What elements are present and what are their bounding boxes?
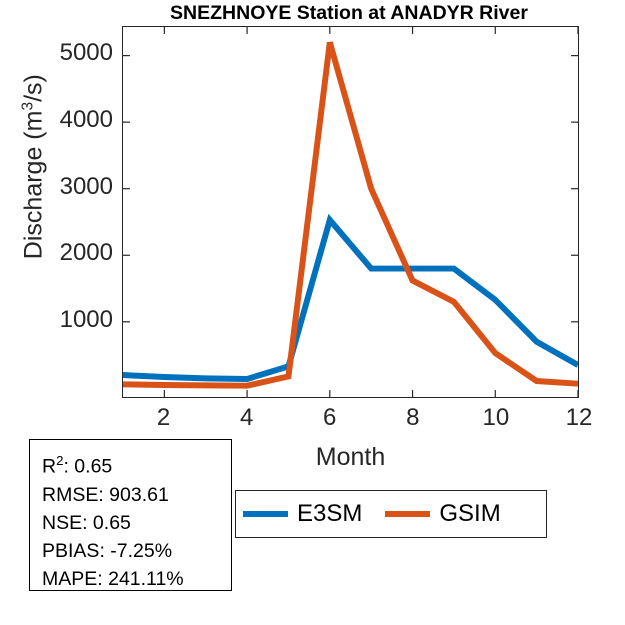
- stat-rmse: RMSE: 903.61: [42, 481, 231, 509]
- legend-swatch-gsim: [385, 511, 430, 517]
- statistics-box: R2: 0.65 RMSE: 903.61 NSE: 0.65 PBIAS: -…: [29, 439, 232, 591]
- stat-pbias: PBIAS: -7.25%: [42, 537, 231, 565]
- stat-mape: MAPE: 241.11%: [42, 565, 231, 593]
- stat-r2-label: R: [42, 456, 56, 478]
- legend-label-e3sm: E3SM: [297, 500, 362, 528]
- x-tick-label-8: 8: [406, 404, 419, 432]
- plot-lines: [123, 27, 578, 397]
- y-tick-label-5000: 5000: [60, 39, 113, 67]
- x-tick-label-12: 12: [566, 404, 593, 432]
- y-tick-label-4000: 4000: [60, 106, 113, 134]
- x-tick-label-4: 4: [240, 404, 253, 432]
- legend-entry-e3sm[interactable]: E3SM: [243, 500, 362, 528]
- chart-title: SNEZHNOYE Station at ANADYR River: [118, 2, 580, 25]
- y-axis-label-tail: /s): [20, 74, 48, 102]
- plot-area: [122, 26, 579, 398]
- y-tick-label-2000: 2000: [60, 239, 113, 267]
- y-tick-label-3000: 3000: [60, 173, 113, 201]
- series-line-e3sm: [123, 220, 578, 379]
- x-tick-label-2: 2: [157, 404, 170, 432]
- stat-r2-value: : 0.65: [63, 456, 112, 478]
- legend-label-gsim: GSIM: [439, 500, 500, 528]
- y-axis-label-exponent: 3: [19, 102, 36, 111]
- y-axis-label: Discharge (m3/s): [19, 0, 48, 337]
- series-line-gsim: [123, 42, 578, 385]
- chart-figure: SNEZHNOYE Station at ANADYR River Discha…: [0, 0, 625, 625]
- stat-r2: R2: 0.65: [42, 447, 231, 481]
- y-tick-label-1000: 1000: [60, 306, 113, 334]
- legend-entry-gsim[interactable]: GSIM: [385, 500, 500, 528]
- x-tick-label-10: 10: [483, 404, 510, 432]
- legend-swatch-e3sm: [243, 511, 288, 517]
- stat-nse: NSE: 0.65: [42, 509, 231, 537]
- y-axis-label-text: Discharge (m: [20, 111, 48, 260]
- chart-legend: E3SM GSIM: [235, 490, 547, 538]
- x-tick-label-6: 6: [323, 404, 336, 432]
